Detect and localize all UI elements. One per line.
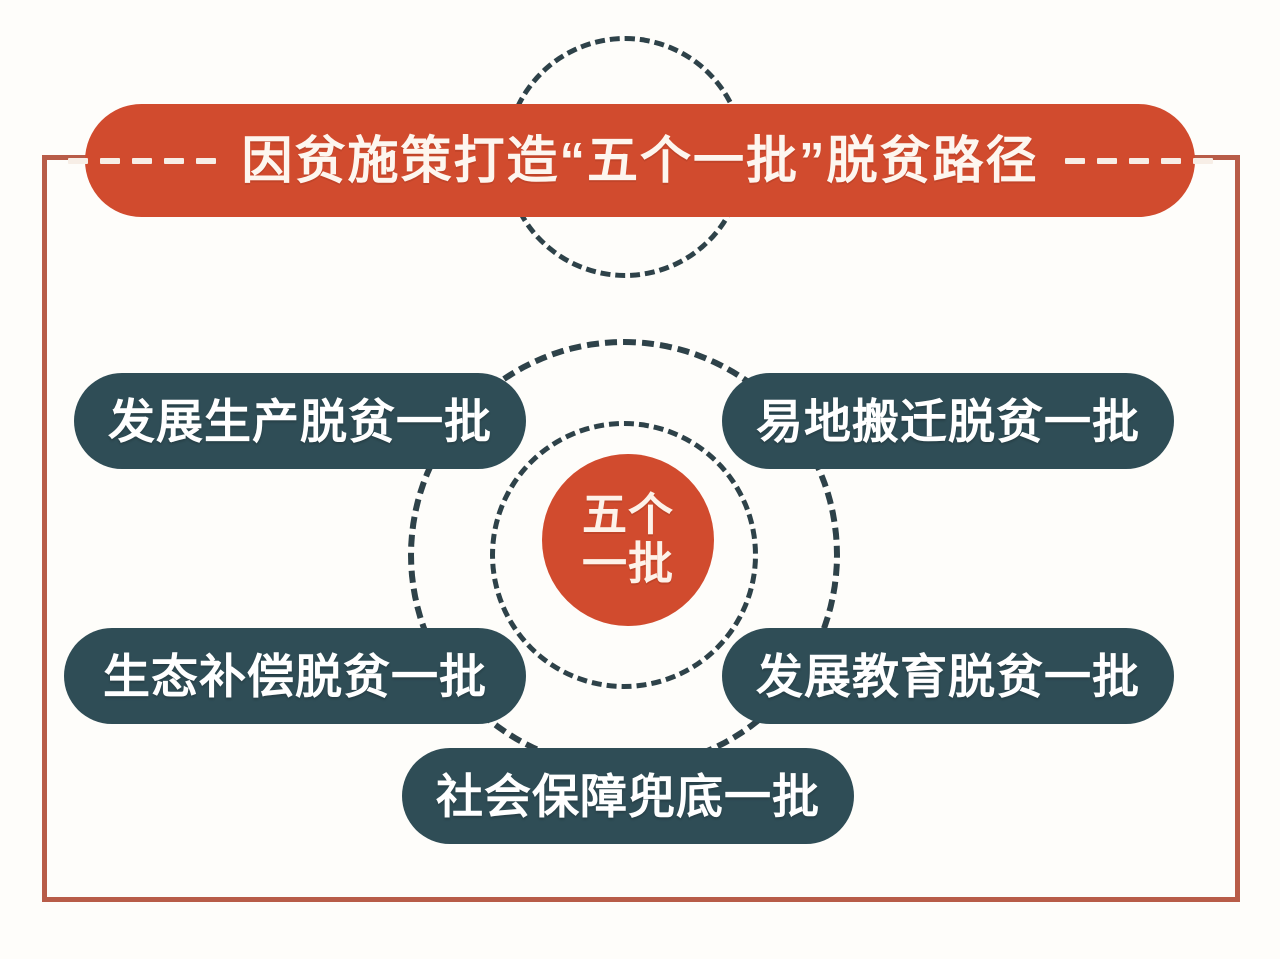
node-bottom-center-label: 社会保障兜底一批 — [436, 773, 820, 820]
node-bottom-left-label: 生态补偿脱贫一批 — [103, 653, 487, 700]
page-title: 因贫施策打造“五个一批”脱贫路径 — [242, 135, 1039, 186]
center-hub-line-1: 五个 — [582, 491, 674, 540]
node-top-right[interactable]: 易地搬迁脱贫一批 — [722, 373, 1174, 469]
title-dashes-left-icon — [68, 158, 216, 164]
node-top-right-label: 易地搬迁脱贫一批 — [756, 398, 1140, 445]
node-top-left-label: 发展生产脱贫一批 — [108, 398, 492, 445]
infographic-canvas: 因贫施策打造“五个一批”脱贫路径 五个 一批 发展生产脱贫一批 易地搬迁脱贫一批… — [0, 0, 1280, 959]
center-hub-line-2: 一批 — [582, 540, 674, 589]
node-bottom-left[interactable]: 生态补偿脱贫一批 — [64, 628, 526, 724]
node-bottom-right[interactable]: 发展教育脱贫一批 — [722, 628, 1174, 724]
title-banner: 因贫施策打造“五个一批”脱贫路径 — [85, 104, 1195, 217]
node-bottom-center[interactable]: 社会保障兜底一批 — [402, 748, 854, 844]
center-hub: 五个 一批 — [542, 454, 714, 626]
node-bottom-right-label: 发展教育脱贫一批 — [756, 653, 1140, 700]
title-dashes-right-icon — [1065, 158, 1213, 164]
node-top-left[interactable]: 发展生产脱贫一批 — [74, 373, 526, 469]
